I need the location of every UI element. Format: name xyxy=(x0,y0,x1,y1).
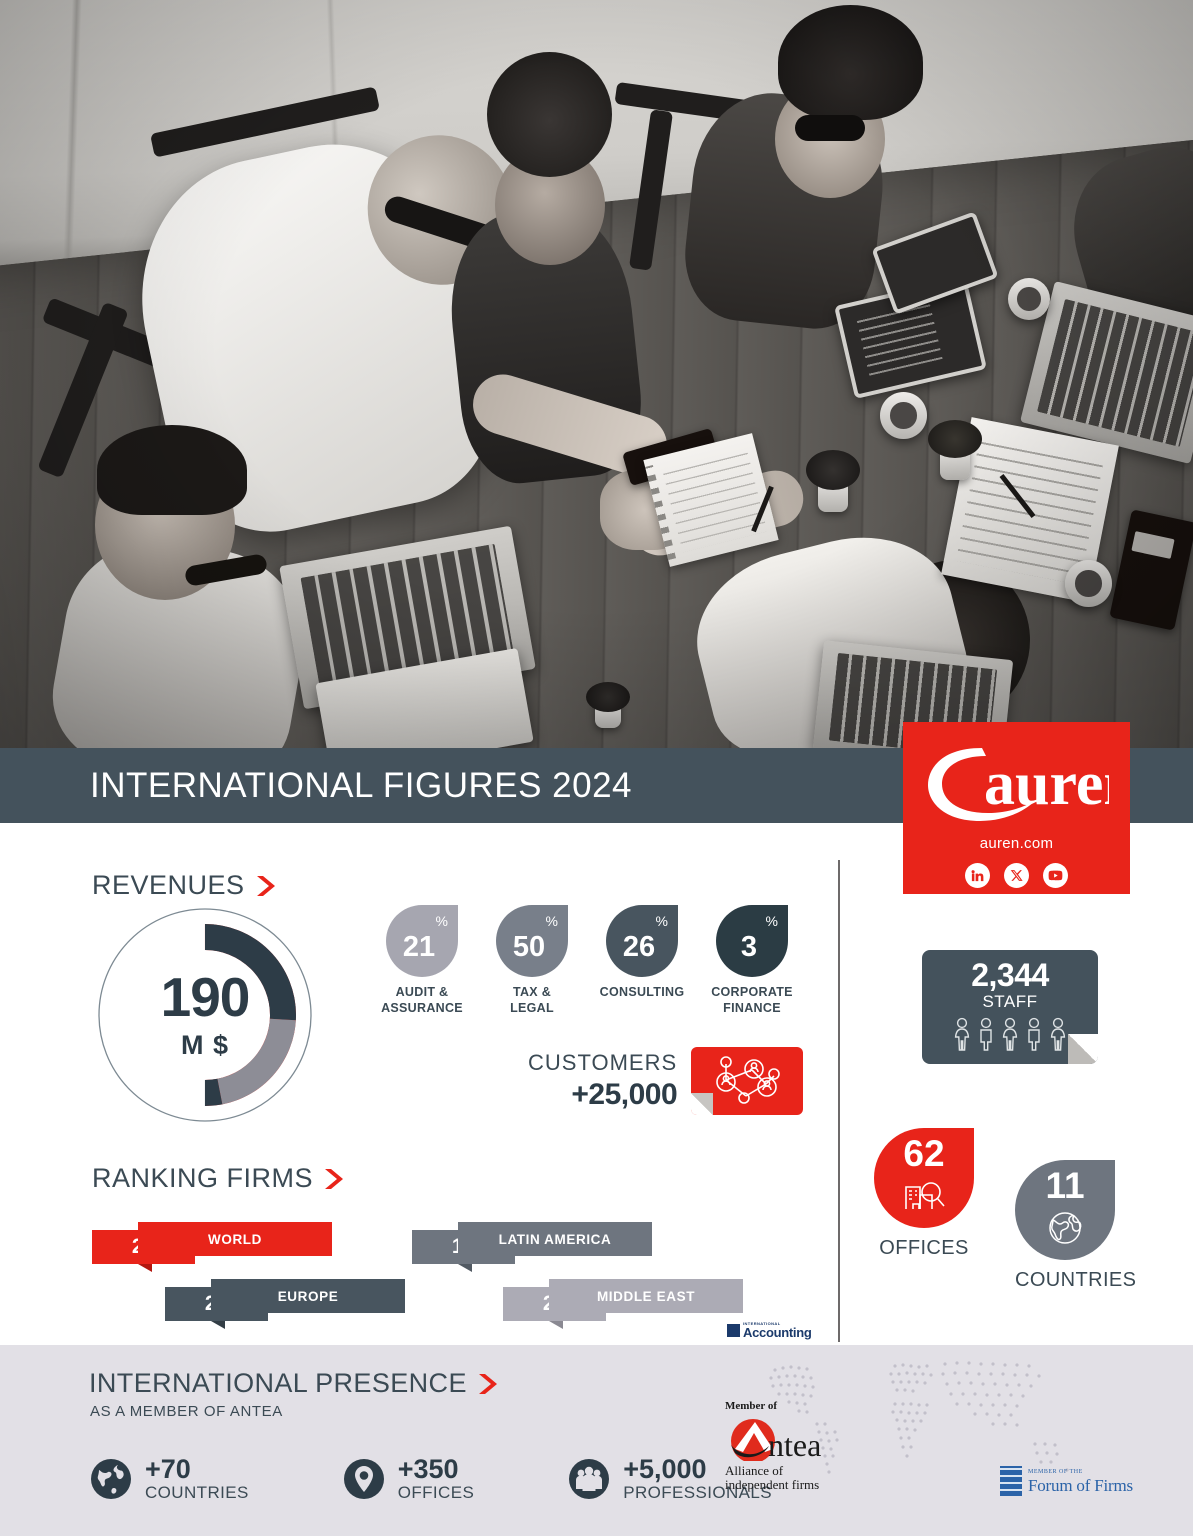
network-people-icon xyxy=(691,1047,803,1115)
countries-stat: 11 COUNTRIES xyxy=(1015,1160,1115,1292)
countries-value: 11 xyxy=(1045,1165,1084,1207)
ranking-region: EUROPE xyxy=(278,1289,339,1304)
breakdown-item: 3 % CORPORATE FINANCE xyxy=(716,905,788,1016)
iab-big-text: Accounting xyxy=(743,1326,812,1339)
iab-square-icon xyxy=(727,1324,740,1337)
breakdown-pct: 3 xyxy=(741,931,757,964)
brand-logo-card[interactable]: auren auren.com xyxy=(903,722,1130,894)
people-icon xyxy=(568,1458,610,1500)
breakdown-item: 26 % CONSULTING xyxy=(606,905,678,1016)
svg-text:auren: auren xyxy=(984,750,1109,818)
presence-stat-value: +70 xyxy=(145,1455,249,1483)
fof-small-text: MEMBER OF THE xyxy=(1028,1469,1133,1475)
ranking-region-block: MIDDLE EAST xyxy=(549,1279,743,1313)
linkedin-icon[interactable] xyxy=(965,863,990,888)
percent-symbol: % xyxy=(546,913,558,929)
x-icon[interactable] xyxy=(1004,863,1029,888)
ranking-heading: RANKING FIRMS xyxy=(92,1163,348,1194)
offices-value: 62 xyxy=(903,1133,944,1175)
breakdown-label: CONSULTING xyxy=(600,985,685,1001)
fof-bars-icon xyxy=(1000,1466,1022,1496)
office-search-icon xyxy=(900,1175,948,1220)
revenues-donut-chart: 190 M $ xyxy=(95,905,315,1125)
pin-icon xyxy=(343,1458,385,1500)
staff-value: 2,344 xyxy=(922,950,1098,994)
chevron-right-icon xyxy=(477,1372,502,1396)
vertical-divider xyxy=(838,860,840,1342)
chevron-right-icon xyxy=(323,1167,348,1191)
presence-stats: +70 COUNTRIES +350 OFFICES +5,000 PROFES… xyxy=(90,1455,772,1503)
antea-tagline-2: independent firms xyxy=(725,1477,819,1492)
brand-url[interactable]: auren.com xyxy=(980,835,1054,852)
countries-label: COUNTRIES xyxy=(1015,1269,1115,1292)
breakdown-item: 50 % TAX & LEGAL xyxy=(496,905,568,1016)
ranking-region: WORLD xyxy=(208,1232,262,1247)
auren-logo-icon: auren xyxy=(924,742,1109,827)
staff-label: STAFF xyxy=(922,992,1098,1012)
antea-tagline-1: Alliance of xyxy=(725,1463,783,1478)
customers-label: CUSTOMERS xyxy=(528,1050,677,1076)
youtube-icon[interactable] xyxy=(1043,863,1068,888)
revenue-unit: M $ xyxy=(181,1030,229,1061)
staff-card: 2,344 STAFF xyxy=(922,950,1098,1064)
breakdown-label: TAX & LEGAL xyxy=(496,985,568,1016)
international-accounting-bulletin-logo: INTERNATIONAL Accounting xyxy=(727,1322,812,1339)
ranking-region-block: EUROPE xyxy=(211,1279,405,1313)
presence-stat-item: +350 OFFICES xyxy=(343,1455,474,1503)
breakdown-item: 21 % AUDIT & ASSURANCE xyxy=(386,905,458,1016)
offices-stat: 62 OFFICES xyxy=(874,1128,974,1260)
ribbon-fold xyxy=(138,1264,152,1272)
ranking-region-block: WORLD xyxy=(138,1222,332,1256)
breakdown-label: AUDIT & ASSURANCE xyxy=(381,985,463,1016)
ranking-heading-label: RANKING FIRMS xyxy=(92,1163,313,1194)
page-title: INTERNATIONAL FIGURES 2024 xyxy=(90,766,632,806)
breakdown-pct: 50 xyxy=(513,931,545,964)
forum-of-firms-logo: MEMBER OF THE Forum of Firms xyxy=(1000,1466,1133,1496)
presence-stat-label: COUNTRIES xyxy=(145,1483,249,1503)
globe-icon xyxy=(1043,1207,1087,1254)
presence-heading: INTERNATIONAL PRESENCE xyxy=(89,1368,502,1399)
customers-stat: CUSTOMERS +25,000 xyxy=(528,1047,803,1115)
percent-symbol: % xyxy=(436,913,448,929)
chevron-right-icon xyxy=(255,874,280,898)
ribbon-fold xyxy=(458,1264,472,1272)
ranking-region: MIDDLE EAST xyxy=(597,1289,695,1304)
card-fold xyxy=(1068,1034,1098,1064)
breakdown-pct: 21 xyxy=(403,931,435,964)
globe-icon xyxy=(90,1458,132,1500)
presence-stat-label: OFFICES xyxy=(398,1483,474,1503)
presence-stat-item: +70 COUNTRIES xyxy=(90,1455,249,1503)
antea-member-of: Member of xyxy=(725,1400,855,1412)
ranking-region-block: LATIN AMERICA xyxy=(458,1222,652,1256)
offices-label: OFFICES xyxy=(874,1237,974,1260)
hero-photo xyxy=(0,0,1193,760)
antea-wordmark: ntea xyxy=(768,1429,821,1461)
breakdown-pct: 26 xyxy=(623,931,655,964)
customers-value: +25,000 xyxy=(528,1078,677,1112)
fof-big-text: Forum of Firms xyxy=(1028,1477,1133,1494)
presence-heading-label: INTERNATIONAL PRESENCE xyxy=(89,1368,467,1399)
revenue-value: 190 xyxy=(161,970,250,1025)
breakdown-label: CORPORATE FINANCE xyxy=(711,985,793,1016)
revenues-heading-label: REVENUES xyxy=(92,870,245,901)
presence-stat-value: +350 xyxy=(398,1455,474,1483)
presence-subheading: AS A MEMBER OF ANTEA xyxy=(90,1403,283,1420)
revenue-breakdown-list: 21 % AUDIT & ASSURANCE 50 % TAX & LEGAL … xyxy=(386,905,788,1016)
revenues-heading: REVENUES xyxy=(92,870,280,901)
percent-symbol: % xyxy=(656,913,668,929)
antea-logo: Member of ntea Alliance of independent f… xyxy=(725,1400,855,1493)
social-links xyxy=(965,863,1068,888)
percent-symbol: % xyxy=(766,913,778,929)
ranking-bars: 29 WORLD 21 EUROPE 18 LATIN AMERICA 28 M… xyxy=(92,1222,792,1322)
ranking-region: LATIN AMERICA xyxy=(499,1232,612,1247)
